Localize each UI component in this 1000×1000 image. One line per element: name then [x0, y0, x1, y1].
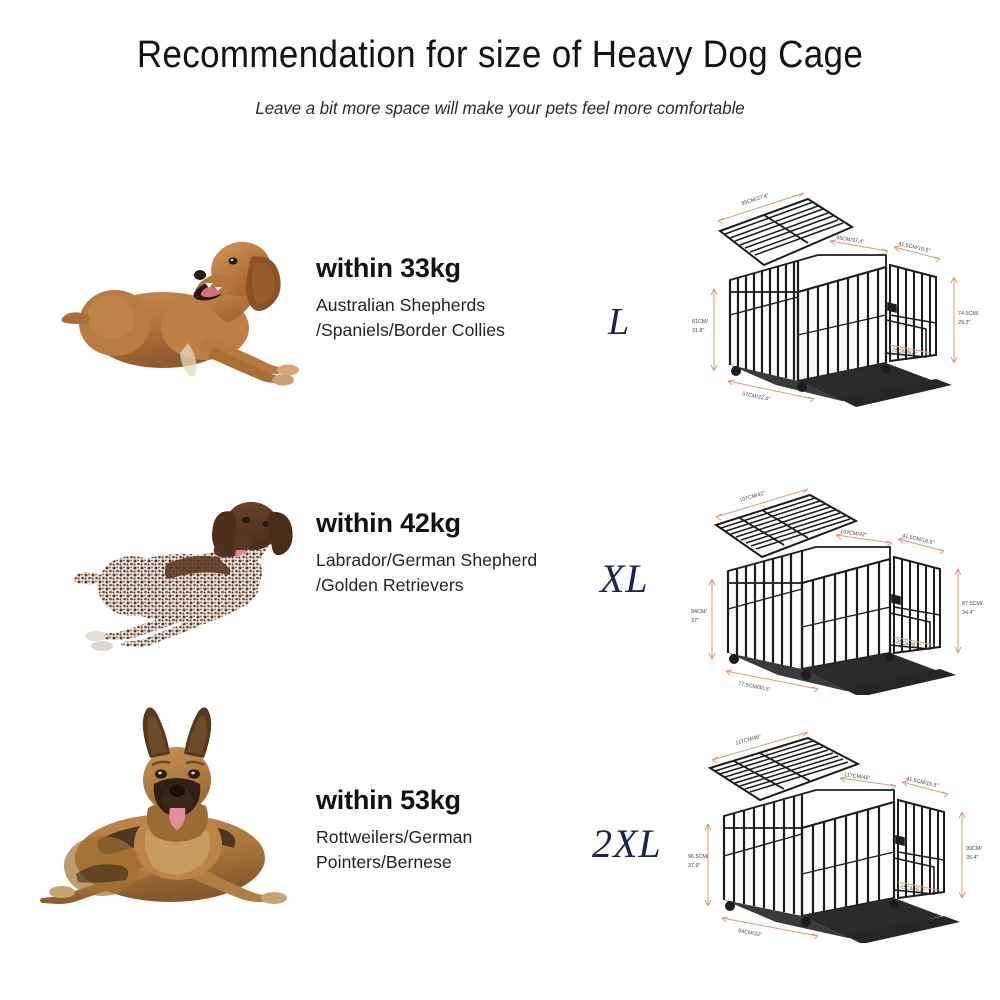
dim-lid-top: 107CM/42": [739, 490, 766, 504]
header: Recommendation for size of Heavy Dog Cag…: [0, 34, 1000, 119]
dim-height-left-1: 81CM/: [692, 319, 708, 325]
dim-height-right-2: 29.3": [958, 320, 970, 326]
dog-photo-german-shepherd: [40, 688, 310, 923]
dim-width-bottom: 57CM/22.4": [742, 391, 771, 403]
dim-lid-top: 117CM/46": [735, 734, 762, 747]
weight-label-l: within 33kg: [316, 253, 505, 284]
size-row-xl: within 42kg Labrador/German Shepherd /Go…: [0, 430, 1000, 680]
size-info-2xl: within 53kg Rottweilers/German Pointers/…: [316, 785, 472, 875]
breed-line: Australian Shepherds: [316, 293, 505, 318]
breed-line: Rottweilers/German: [316, 825, 472, 850]
dog-photo-tan-hound: [55, 165, 305, 415]
breed-line: /Spaniels/Border Collies: [316, 318, 505, 343]
cage-diagram-xl: 107CM/42" 107CM/42" 41.5CM/16.5" 94CM/ 3…: [690, 485, 990, 695]
cage-diagram-l: 95CM/37.4" 95CM/37.4" 41.5CM/16.5" 81CM/…: [690, 185, 990, 415]
dim-height-left-2: 37.9": [688, 863, 700, 869]
page-title: Recommendation for size of Heavy Dog Cag…: [40, 34, 960, 77]
dim-depth-top: 95CM/37.4": [836, 235, 865, 245]
breed-list-xl: Labrador/German Shepherd /Golden Retriev…: [316, 548, 537, 598]
breed-line: Pointers/Bernese: [316, 850, 472, 875]
dim-lid-top: 95CM/37.4": [741, 193, 770, 207]
size-info-xl: within 42kg Labrador/German Shepherd /Go…: [316, 508, 537, 598]
size-info-l: within 33kg Australian Shepherds /Spanie…: [316, 253, 505, 343]
dim-height-right-1: 90CM/: [966, 846, 982, 852]
cage-diagram-2xl: 117CM/46" 117CM/46" 41.5CM/16.5" 96.5CM/…: [688, 728, 988, 943]
dim-height-left-2: 37": [691, 618, 699, 624]
breed-list-l: Australian Shepherds /Spaniels/Border Co…: [316, 293, 505, 343]
dim-height-right-1: 87.5CM/: [962, 601, 983, 607]
breed-line: Labrador/German Shepherd: [316, 548, 537, 573]
dim-height-right-1: 74.5CM/: [958, 311, 979, 317]
breed-list-2xl: Rottweilers/German Pointers/Bernese: [316, 825, 472, 875]
weight-label-2xl: within 53kg: [316, 785, 472, 816]
breed-line: /Golden Retrievers: [316, 573, 537, 598]
size-code-xl: XL: [600, 555, 649, 602]
dim-height-right-2: 35.4": [966, 855, 978, 861]
dim-height-left-2: 31.8": [692, 328, 704, 334]
size-row-l: within 33kg Australian Shepherds /Spanie…: [0, 165, 1000, 415]
page-subtitle: Leave a bit more space will make your pe…: [20, 98, 980, 119]
german-shepherd-lying-icon: [40, 688, 310, 923]
size-code-l: L: [608, 300, 630, 344]
dog-photo-pointer: [70, 468, 310, 658]
infographic-page: Recommendation for size of Heavy Dog Cag…: [0, 0, 1000, 1000]
size-code-2xl: 2XL: [592, 820, 662, 867]
dim-height-right-2: 34.4": [962, 610, 974, 616]
german-shorthaired-pointer-lying-icon: [70, 468, 310, 658]
size-row-2xl: within 53kg Rottweilers/German Pointers/…: [0, 680, 1000, 930]
dim-width-bottom: 84CM/33": [738, 928, 763, 938]
dim-height-left-1: 94CM/: [691, 609, 707, 615]
dim-height-left-1: 96.5CM/: [688, 854, 709, 860]
weight-label-xl: within 42kg: [316, 508, 537, 539]
tan-hound-lying-icon: [55, 165, 305, 415]
